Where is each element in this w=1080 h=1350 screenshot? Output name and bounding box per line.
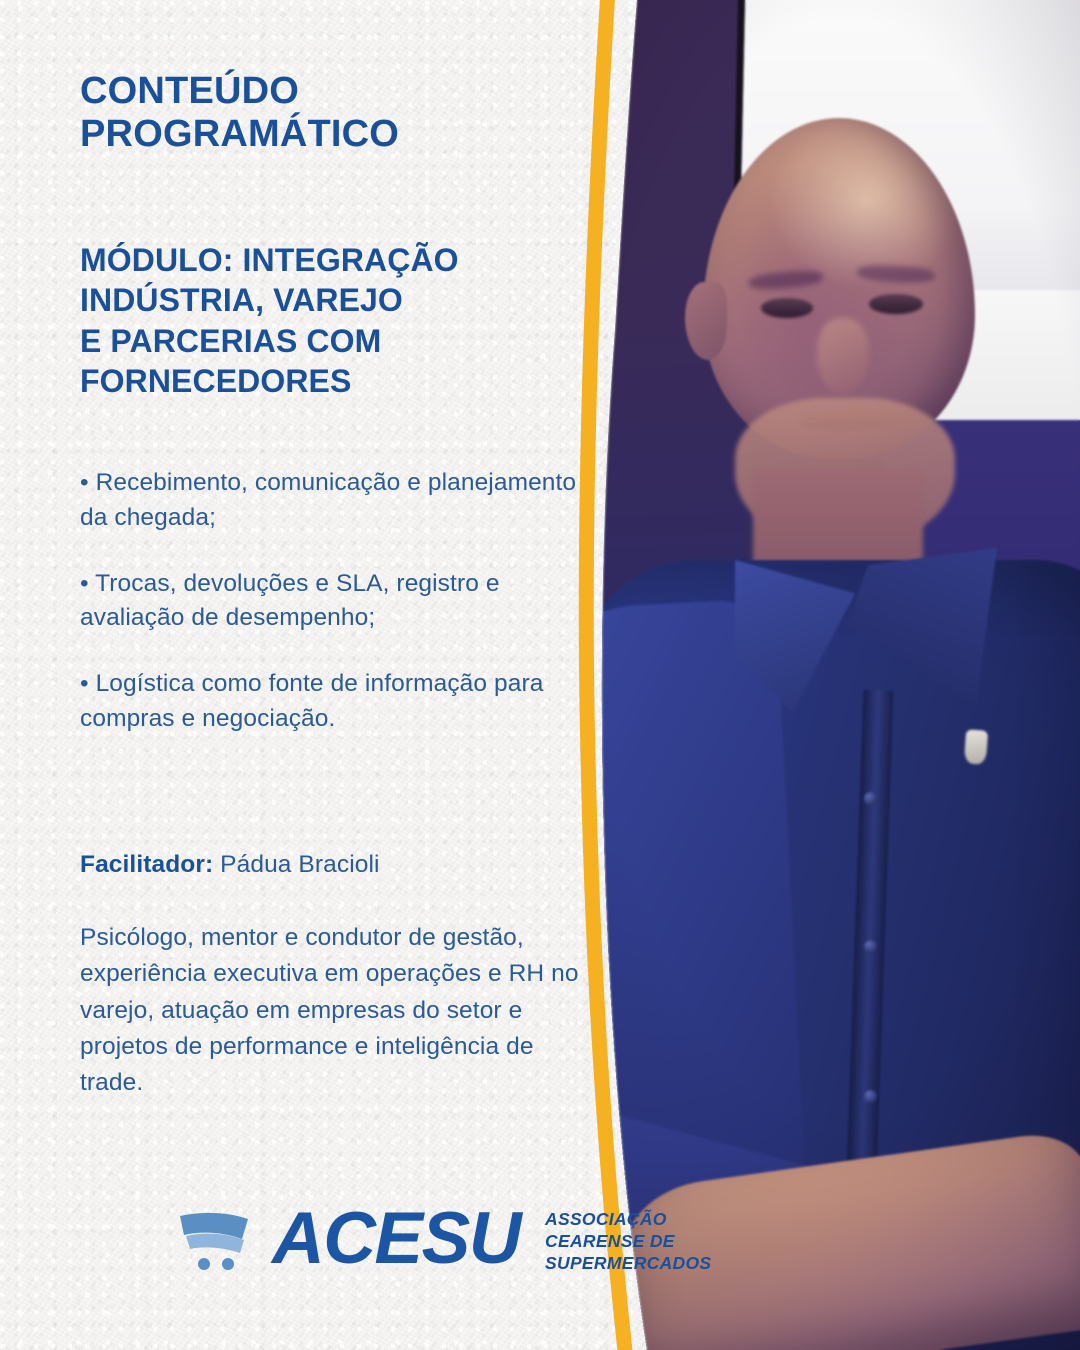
topic-item: • Logística como fonte de informação par… xyxy=(80,667,600,737)
topic-list: • Recebimento, comunicação e planejament… xyxy=(80,466,600,737)
topic-item: • Recebimento, comunicação e planejament… xyxy=(80,466,600,536)
facilitator-name: Pádua Bracioli xyxy=(220,851,379,878)
page-title-line-1: CONTEÚDO xyxy=(80,70,299,112)
portrait-eye-right xyxy=(869,294,923,314)
module-title-line-4: FORNECEDORES xyxy=(80,363,351,399)
module-title-line-2: INDÚSTRIA, VAREJO xyxy=(80,282,403,318)
facilitator-photo xyxy=(585,0,1080,1350)
text-column: CONTEÚDOPROGRAMÁTICO MÓDULO: INTEGRAÇÃOI… xyxy=(80,0,580,1350)
topic-item: • Trocas, devoluções e SLA, registro e a… xyxy=(80,567,600,637)
acesu-tagline-line-2: CEARENSE DE xyxy=(545,1231,675,1251)
module-title: MÓDULO: INTEGRAÇÃOINDÚSTRIA, VAREJOE PAR… xyxy=(80,240,590,401)
page-title-line-2: PROGRAMÁTICO xyxy=(80,113,399,155)
facilitator-line: Facilitador: Pádua Bracioli xyxy=(80,848,580,882)
module-title-line-1: MÓDULO: INTEGRAÇÃO xyxy=(80,242,459,278)
acesu-wordmark: ACESU xyxy=(272,1208,520,1271)
page-title: CONTEÚDOPROGRAMÁTICO xyxy=(80,70,580,156)
portrait-shirt-button xyxy=(864,792,877,805)
acesu-tagline-line-3: SUPERMERCADOS xyxy=(545,1253,711,1273)
module-title-line-3: E PARCERIAS COM xyxy=(80,323,381,359)
portrait-shirt-button xyxy=(864,940,877,953)
portrait-ear xyxy=(685,282,727,360)
portrait-nose xyxy=(817,318,869,394)
acesu-tagline-line-1: ASSOCIAÇÃO xyxy=(545,1209,667,1229)
portrait-eye-left xyxy=(761,298,813,318)
acesu-logo: ACESU ASSOCIAÇÃOCEARENSE DESUPERMERCADOS xyxy=(176,1205,711,1274)
shopping-cart-icon xyxy=(176,1209,260,1271)
facilitator-label: Facilitador: xyxy=(80,851,213,878)
acesu-tagline: ASSOCIAÇÃOCEARENSE DESUPERMERCADOS xyxy=(545,1205,711,1274)
portrait-shirt-button xyxy=(864,1090,877,1103)
facilitator-bio: Psicólogo, mentor e condutor de gestão, … xyxy=(80,920,580,1101)
poster-canvas: CONTEÚDOPROGRAMÁTICO MÓDULO: INTEGRAÇÃOI… xyxy=(0,0,1080,1350)
